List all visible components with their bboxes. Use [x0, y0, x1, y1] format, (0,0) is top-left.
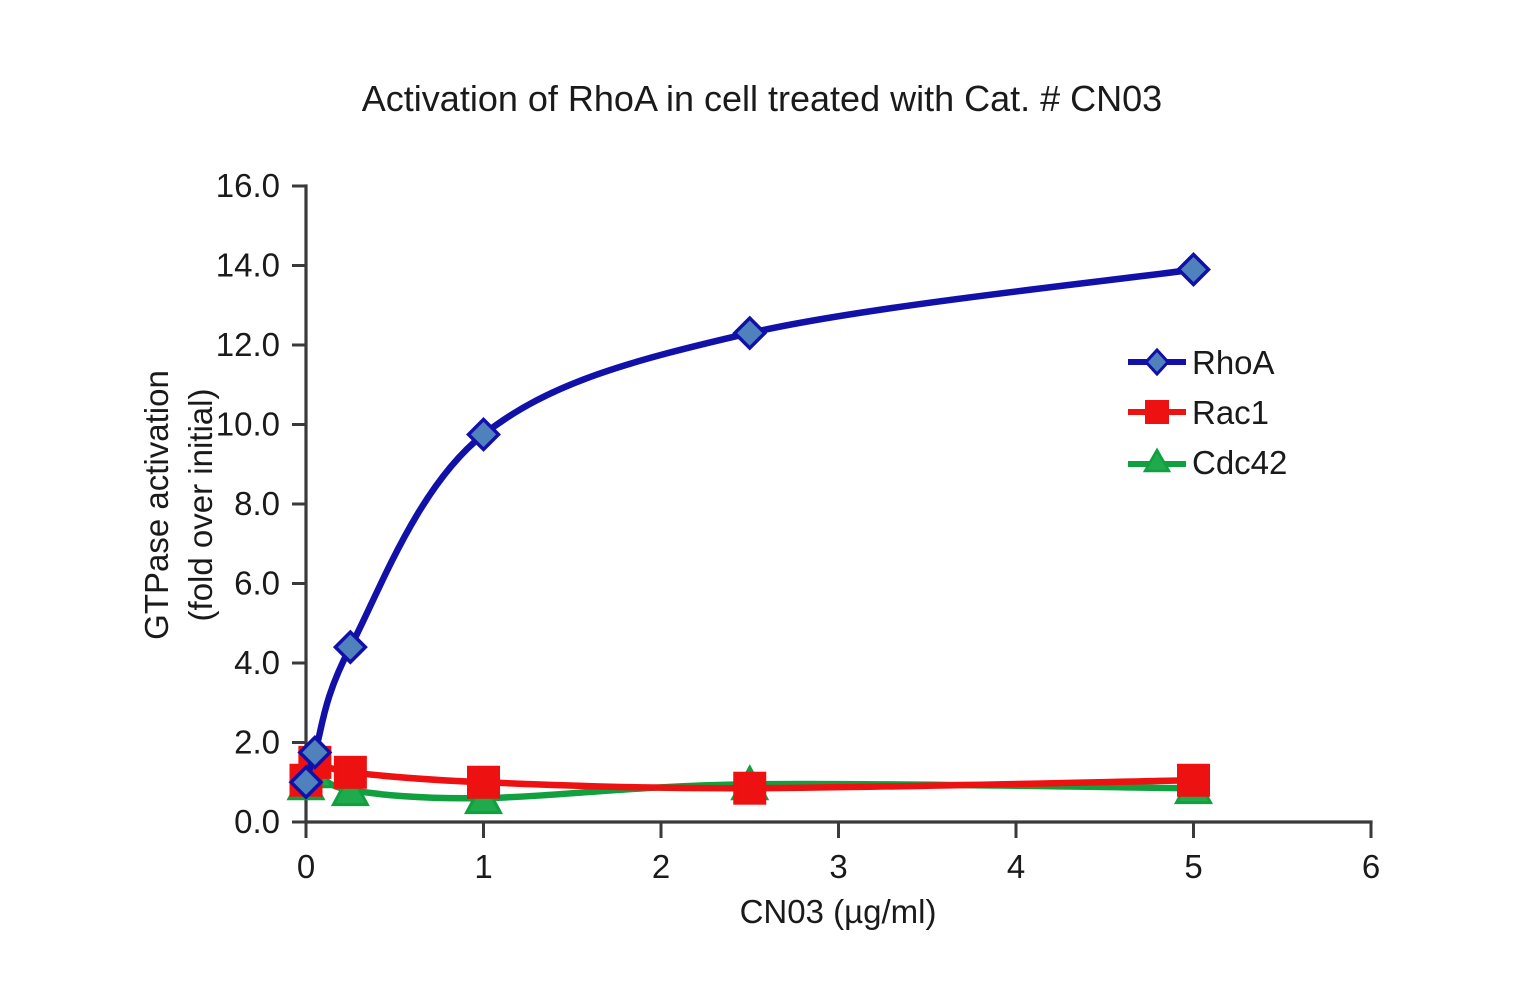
- y-axis-title-line2: (fold over initial): [182, 389, 219, 622]
- data-point: [335, 757, 365, 787]
- legend-label-rac1: Rac1: [1192, 396, 1269, 429]
- data-point: [1179, 765, 1209, 795]
- y-tick-label: 4.0: [234, 644, 280, 681]
- legend-label-cdc42: Cdc42: [1192, 446, 1287, 479]
- legend-marker-triangle-icon: [1126, 447, 1188, 477]
- chart-legend: RhoA Rac1 Cdc42: [1126, 338, 1326, 488]
- y-tick-label: 10.0: [216, 406, 280, 443]
- y-tick-label: 0.0: [234, 803, 280, 840]
- y-tick-label: 12.0: [216, 326, 280, 363]
- x-tick-label: 5: [1184, 848, 1202, 885]
- y-axis-title-line1: GTPase activation: [138, 370, 175, 640]
- legend-item[interactable]: Cdc42: [1126, 438, 1326, 486]
- legend-item[interactable]: Rac1: [1126, 388, 1326, 436]
- y-axis-ticks: 0.02.04.06.08.010.012.014.016.0: [216, 167, 306, 840]
- data-point: [735, 318, 765, 348]
- data-point: [335, 632, 365, 662]
- x-tick-label: 0: [297, 848, 315, 885]
- y-tick-label: 8.0: [234, 485, 280, 522]
- series-rhoa: [291, 254, 1209, 797]
- x-axis-title: CN03 (µg/ml): [740, 893, 937, 930]
- legend-label-rhoa: RhoA: [1192, 346, 1275, 379]
- x-tick-label: 4: [1007, 848, 1025, 885]
- x-tick-label: 3: [829, 848, 847, 885]
- data-series-layer: [289, 254, 1211, 812]
- x-tick-label: 6: [1362, 848, 1380, 885]
- y-tick-label: 16.0: [216, 167, 280, 204]
- data-point: [1179, 254, 1209, 284]
- y-tick-label: 14.0: [216, 247, 280, 284]
- legend-marker-diamond-icon: [1126, 347, 1188, 377]
- x-tick-label: 2: [652, 848, 670, 885]
- legend-marker-square-icon: [1126, 397, 1188, 427]
- data-point: [469, 767, 499, 797]
- chart-plot-area: 0.02.04.06.08.010.012.014.016.0 0123456 …: [0, 0, 1524, 1000]
- x-tick-label: 1: [474, 848, 492, 885]
- y-tick-label: 6.0: [234, 565, 280, 602]
- legend-item[interactable]: RhoA: [1126, 338, 1326, 386]
- y-tick-label: 2.0: [234, 724, 280, 761]
- x-axis-ticks: 0123456: [297, 822, 1380, 885]
- chart-figure: Activation of RhoA in cell treated with …: [0, 0, 1524, 1000]
- data-point: [735, 773, 765, 803]
